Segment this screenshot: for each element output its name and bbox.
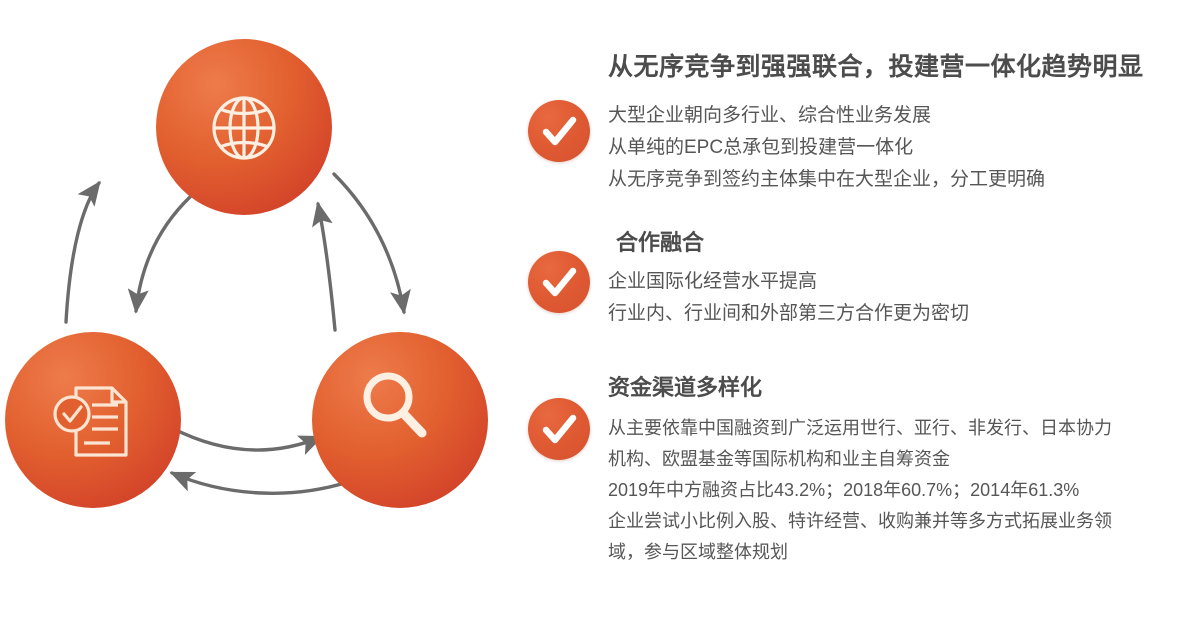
- arrow-right-up: [318, 204, 335, 330]
- cycle-node-document[interactable]: [5, 332, 181, 508]
- content-block-3-body: 资金渠道多样化 从主要依靠中国融资到广泛运用世行、亚行、非发行、日本协力 机构、…: [608, 370, 1112, 568]
- arrow-bottom-right: [172, 428, 321, 450]
- check-icon: [528, 398, 590, 460]
- body-line: 机构、欧盟基金等国际机构和业主自筹资金: [608, 444, 1112, 475]
- section-heading: 合作融合: [616, 225, 969, 257]
- check-icon: [528, 251, 590, 313]
- body-line: 从单纯的EPC总承包到投建营一体化: [608, 132, 1045, 164]
- body-line-stats: 2019年中方融资占比43.2%；2018年60.7%；2014年61.3%: [608, 475, 1112, 506]
- content-column: 从无序竞争到强强联合，投建营一体化趋势明显 大型企业朝向多行业、综合性业务发展 …: [510, 0, 1200, 638]
- globe-icon: [214, 98, 274, 158]
- content-block-1-body: 大型企业朝向多行业、综合性业务发展 从单纯的EPC总承包到投建营一体化 从无序竞…: [608, 100, 1045, 196]
- cycle-node-globe[interactable]: [156, 39, 332, 215]
- body-line: 域，参与区域整体规划: [608, 537, 1112, 568]
- arrow-left-down: [136, 197, 190, 311]
- document-sphere: [5, 332, 181, 508]
- body-line: 从无序竞争到签约主体集中在大型企业，分工更明确: [608, 164, 1045, 196]
- content-block-2-body: 合作融合 企业国际化经营水平提高 行业内、行业间和外部第三方合作更为密切: [608, 225, 969, 330]
- check-badge-3: [528, 398, 590, 460]
- page-title: 从无序竞争到强强联合，投建营一体化趋势明显: [608, 47, 1144, 83]
- cycle-diagram-svg: [0, 0, 510, 638]
- check-badge-2: [528, 251, 590, 313]
- arrow-bottom-left: [172, 473, 348, 493]
- body-line: 行业内、行业间和外部第三方合作更为密切: [608, 298, 969, 330]
- body-line: 企业尝试小比例入股、特许经营、收购兼并等多方式拓展业务领: [608, 506, 1112, 537]
- section-heading: 资金渠道多样化: [608, 370, 1112, 402]
- check-icon: [528, 100, 590, 162]
- body-line: 大型企业朝向多行业、综合性业务发展: [608, 100, 1045, 132]
- body-line: 企业国际化经营水平提高: [608, 266, 969, 298]
- search-sphere: [312, 332, 488, 508]
- arrow-right-down: [334, 174, 404, 312]
- cycle-diagram: [0, 0, 510, 638]
- cycle-node-search[interactable]: [312, 332, 488, 508]
- check-badge-1: [528, 100, 590, 162]
- body-line: 从主要依靠中国融资到广泛运用世行、亚行、非发行、日本协力: [608, 413, 1112, 444]
- arrow-left-up: [66, 183, 99, 322]
